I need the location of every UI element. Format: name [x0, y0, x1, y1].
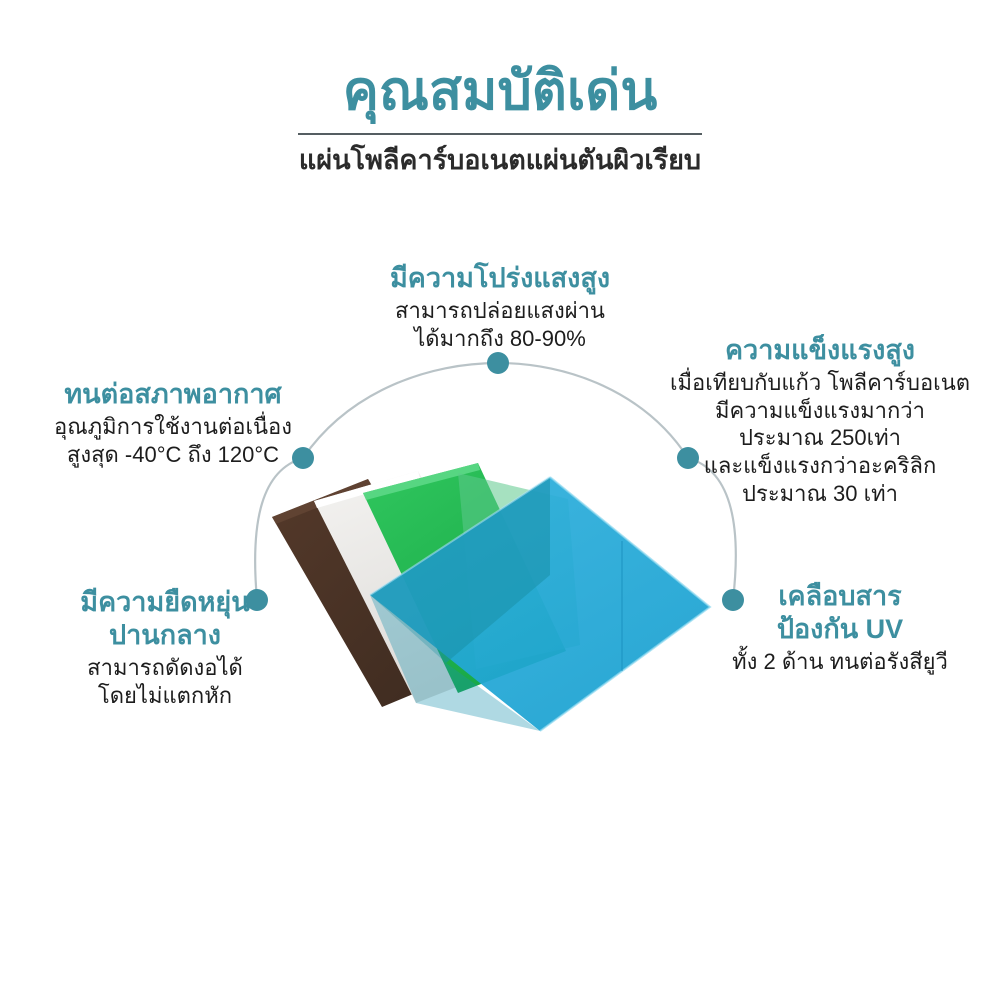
- feature-flexibility-line-1: สามารถดัดงอได้: [20, 654, 310, 682]
- feature-weather-title: ทนต่อสภาพอากาศ: [18, 378, 328, 411]
- feature-flexibility-title: มีความยืดหยุ่น ปานกลาง: [20, 586, 310, 652]
- feature-strength-line-5: ประมาณ 30 เท่า: [640, 480, 1000, 508]
- feature-transparency-title: มีความโปร่งแสงสูง: [320, 262, 680, 295]
- feature-uv: เคลือบสาร ป้องกัน UV ทั้ง 2 ด้าน ทนต่อรั…: [690, 580, 990, 676]
- dot-transparency: [487, 352, 509, 374]
- feature-weather-body: อุณภูมิการใช้งานต่อเนื่อง สูงสุด -40°C ถ…: [18, 413, 328, 468]
- page-subtitle: แผ่นโพลีคาร์บอเนตแผ่นตันผิวเรียบ: [0, 144, 1000, 178]
- feature-weather-line-1: อุณภูมิการใช้งานต่อเนื่อง: [18, 413, 328, 441]
- feature-strength-line-1: เมื่อเทียบกับแก้ว โพลีคาร์บอเนต: [640, 369, 1000, 397]
- feature-uv-title: เคลือบสาร ป้องกัน UV: [690, 580, 990, 646]
- feature-weather-line-2: สูงสุด -40°C ถึง 120°C: [18, 441, 328, 469]
- feature-strength-title: ความแข็งแรงสูง: [640, 334, 1000, 367]
- feature-uv-line-1: ทั้ง 2 ด้าน ทนต่อรังสียูวี: [690, 648, 990, 676]
- feature-transparency-line-2: ได้มากถึง 80-90%: [320, 325, 680, 353]
- feature-strength-line-3: ประมาณ 250เท่า: [640, 424, 1000, 452]
- feature-flexibility: มีความยืดหยุ่น ปานกลาง สามารถดัดงอได้ โด…: [20, 586, 310, 709]
- feature-flexibility-body: สามารถดัดงอได้ โดยไม่แตกหัก: [20, 654, 310, 709]
- header: คุณสมบัติเด่น แผ่นโพลีคาร์บอเนตแผ่นตันผิ…: [0, 62, 1000, 178]
- feature-transparency-line-1: สามารถปล่อยแสงผ่าน: [320, 297, 680, 325]
- feature-flexibility-line-2: โดยไม่แตกหัก: [20, 682, 310, 710]
- infographic-canvas: คุณสมบัติเด่น แผ่นโพลีคาร์บอเนตแผ่นตันผิ…: [0, 0, 1000, 1000]
- feature-strength-body: เมื่อเทียบกับแก้ว โพลีคาร์บอเนต มีความแข…: [640, 369, 1000, 508]
- page-title: คุณสมบัติเด่น: [0, 62, 1000, 121]
- feature-strength-line-2: มีความแข็งแรงมากว่า: [640, 397, 1000, 425]
- title-divider: [298, 133, 702, 135]
- feature-transparency: มีความโปร่งแสงสูง สามารถปล่อยแสงผ่าน ได้…: [320, 262, 680, 352]
- feature-strength: ความแข็งแรงสูง เมื่อเทียบกับแก้ว โพลีคาร…: [640, 334, 1000, 508]
- feature-strength-line-4: และแข็งแรงกว่าอะคริลิก: [640, 452, 1000, 480]
- feature-uv-body: ทั้ง 2 ด้าน ทนต่อรังสียูวี: [690, 648, 990, 676]
- feature-transparency-body: สามารถปล่อยแสงผ่าน ได้มากถึง 80-90%: [320, 297, 680, 352]
- feature-weather: ทนต่อสภาพอากาศ อุณภูมิการใช้งานต่อเนื่อง…: [18, 378, 328, 468]
